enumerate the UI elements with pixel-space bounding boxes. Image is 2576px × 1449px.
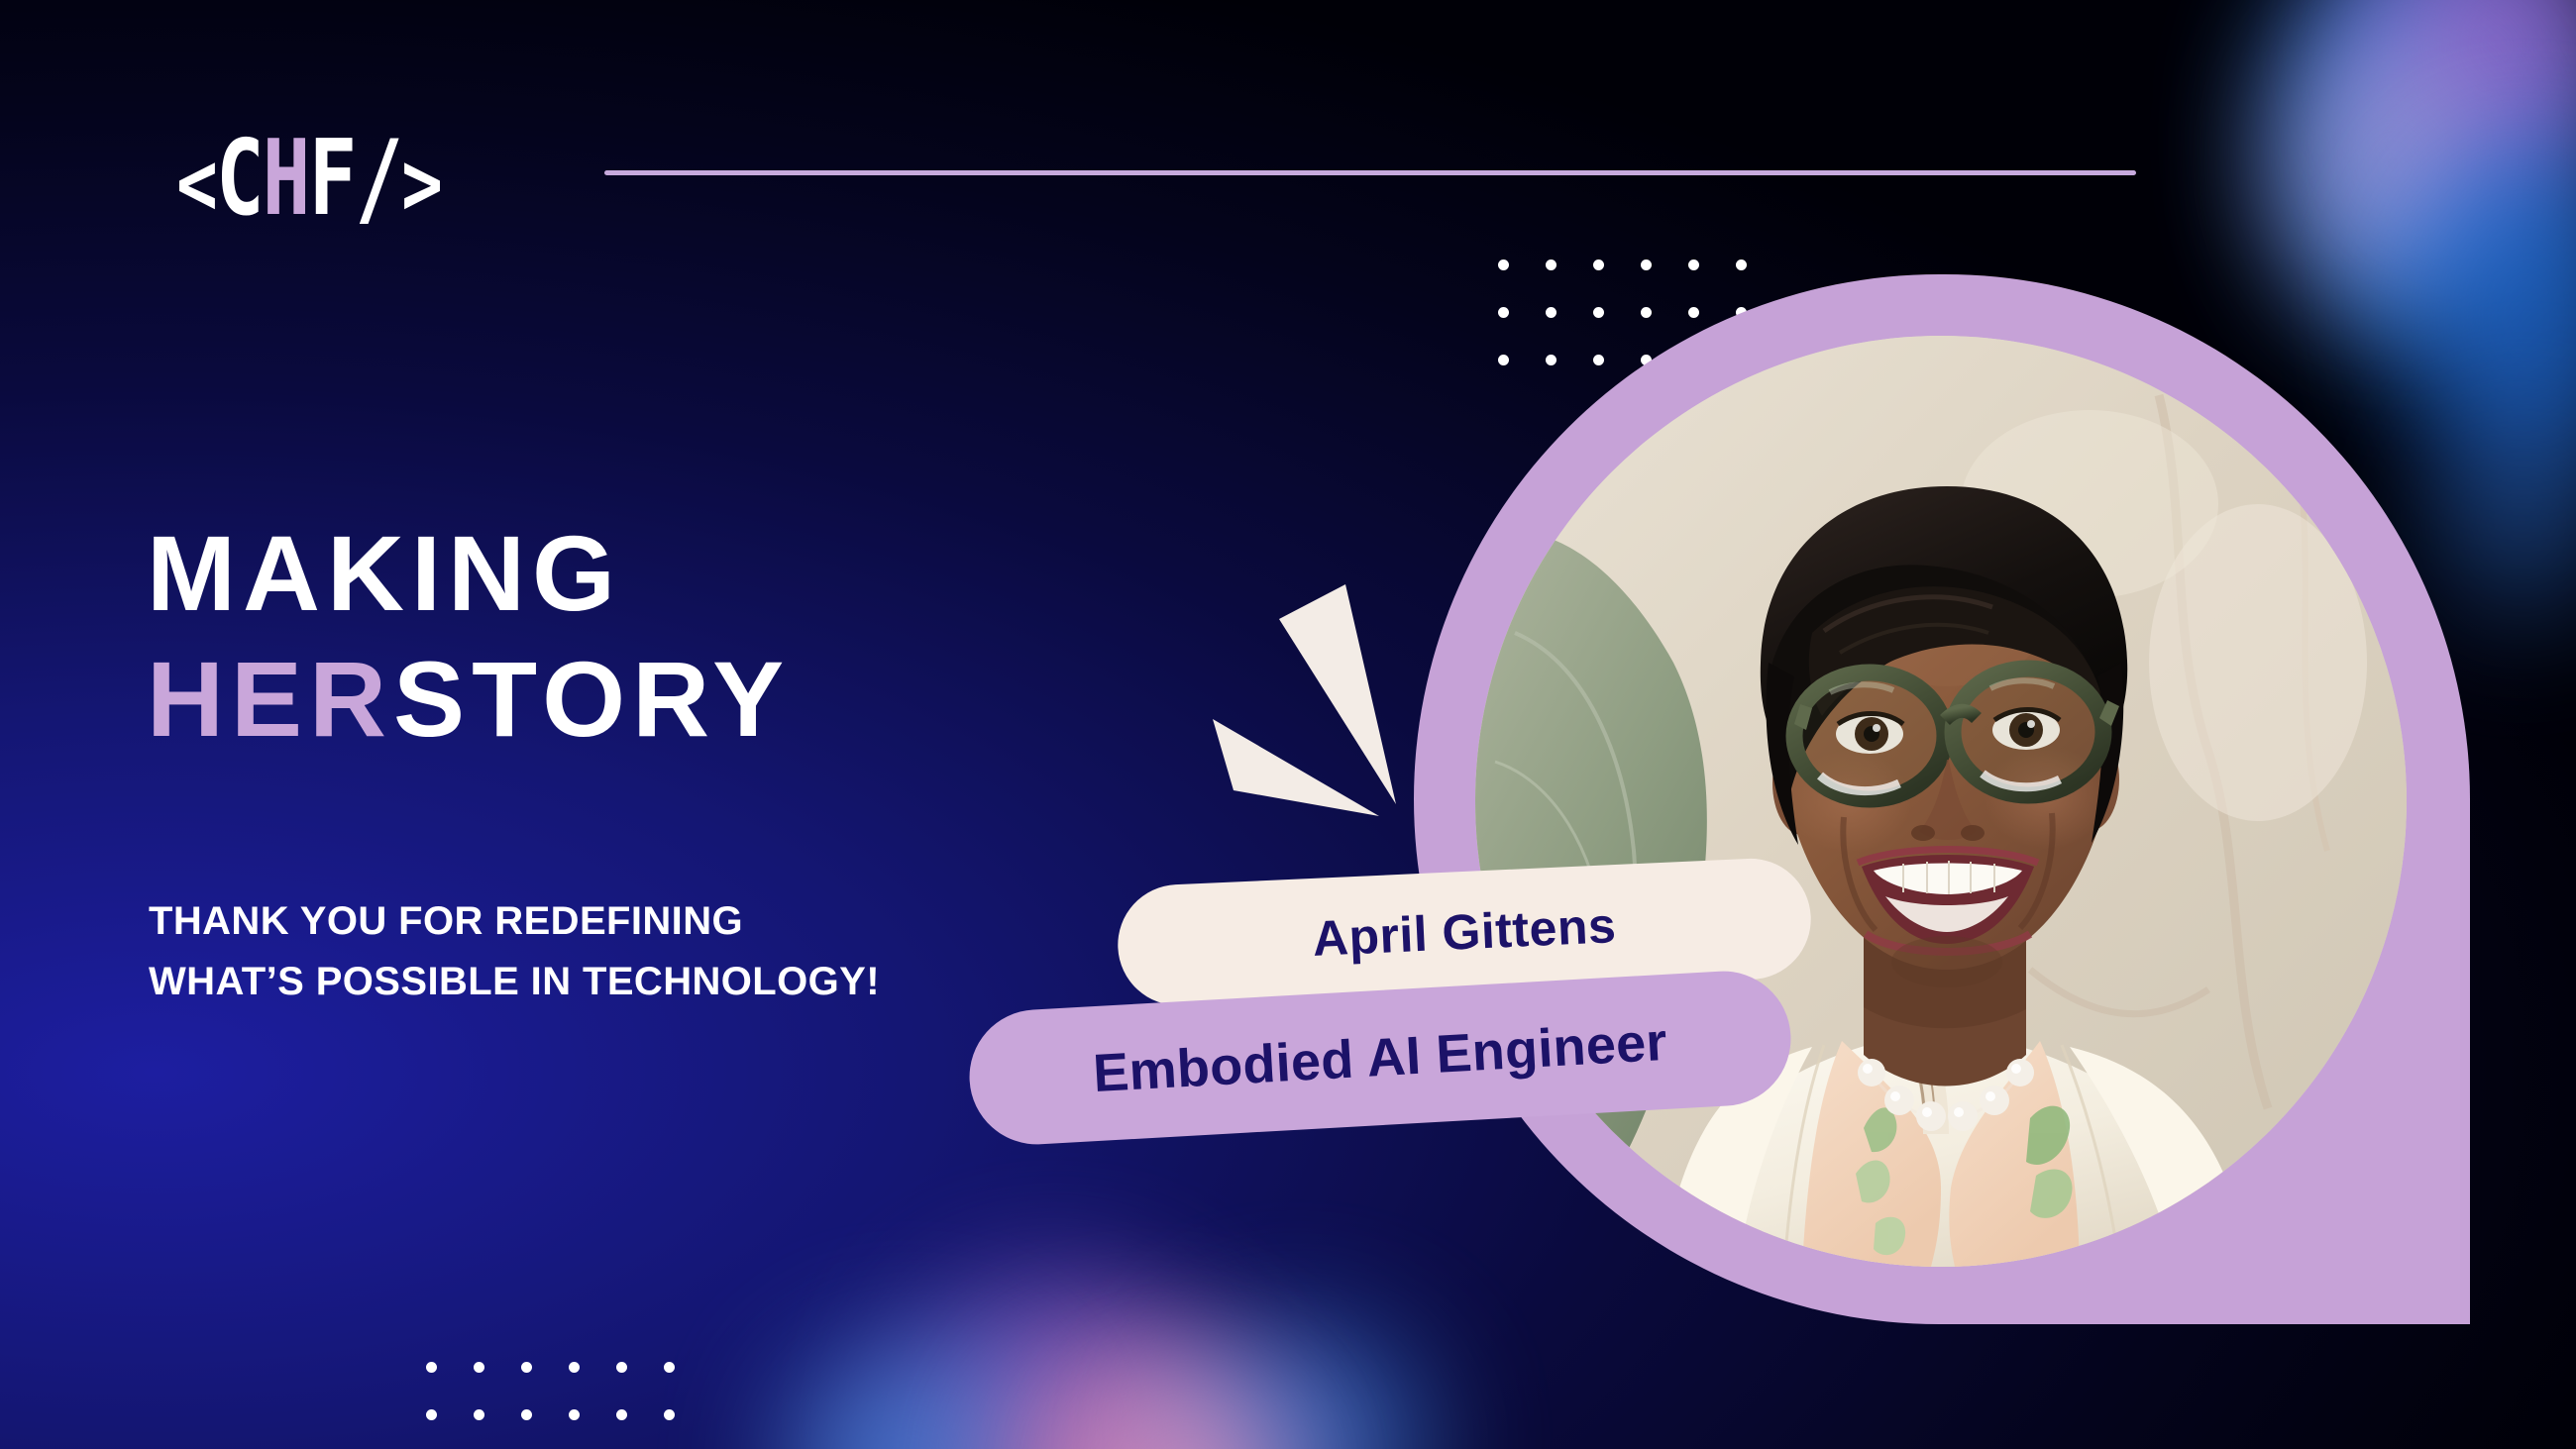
grid-dot <box>1498 259 1509 270</box>
grid-dot <box>664 1362 675 1373</box>
grid-dot <box>1641 307 1652 318</box>
headline-her-highlight: HER <box>147 639 393 759</box>
headline-line-2: HERSTORY <box>147 636 791 762</box>
grid-dot <box>1593 259 1604 270</box>
headline-line-1: MAKING <box>147 513 622 633</box>
grid-dot <box>426 1362 437 1373</box>
logo-letter-h: H <box>263 118 309 239</box>
honoree-title: Embodied AI Engineer <box>1092 1011 1669 1104</box>
grid-dot <box>426 1409 437 1420</box>
grid-dot <box>569 1362 580 1373</box>
grid-dot <box>569 1409 580 1420</box>
logo-letter-c: C <box>216 118 263 239</box>
subheading: THANK YOU FOR REDEFINING WHAT’S POSSIBLE… <box>149 891 880 1012</box>
grid-dot <box>1498 355 1509 365</box>
logo-close-angle-icon: > <box>401 132 441 236</box>
grid-dot <box>521 1362 532 1373</box>
headline-story: STORY <box>393 639 791 759</box>
grid-dot <box>1688 259 1699 270</box>
grid-dot <box>664 1409 675 1420</box>
grid-dot <box>1593 307 1604 318</box>
chf-logo[interactable]: <CHF/> <box>176 127 441 231</box>
header-divider-line <box>604 170 2136 175</box>
grid-dot <box>1498 307 1509 318</box>
subheading-line-1: THANK YOU FOR REDEFINING <box>149 891 880 952</box>
avatar <box>1475 336 2407 1267</box>
grid-dot <box>1688 307 1699 318</box>
grid-dot <box>1546 307 1556 318</box>
grid-dot <box>1593 355 1604 365</box>
logo-letter-f: F <box>309 118 356 239</box>
herstory-social-card: <CHF/> MAKING HERSTORY THANK YOU FOR RED… <box>0 0 2576 1449</box>
portrait-arch-frame <box>1414 274 2470 1324</box>
page-title: MAKING HERSTORY <box>147 510 791 763</box>
grid-dot <box>1736 259 1747 270</box>
honoree-name: April Gittens <box>1312 896 1618 968</box>
subheading-line-2: WHAT’S POSSIBLE IN TECHNOLOGY! <box>149 952 880 1012</box>
grid-dot <box>521 1409 532 1420</box>
grid-dot <box>1546 259 1556 270</box>
grid-dot <box>616 1409 627 1420</box>
grid-dot <box>474 1409 484 1420</box>
grid-dot <box>616 1362 627 1373</box>
grid-dot <box>1641 259 1652 270</box>
grid-dot <box>474 1362 484 1373</box>
grid-dot <box>1546 355 1556 365</box>
logo-open-angle-icon: < <box>176 132 216 236</box>
logo-slash-icon: / <box>355 118 401 239</box>
